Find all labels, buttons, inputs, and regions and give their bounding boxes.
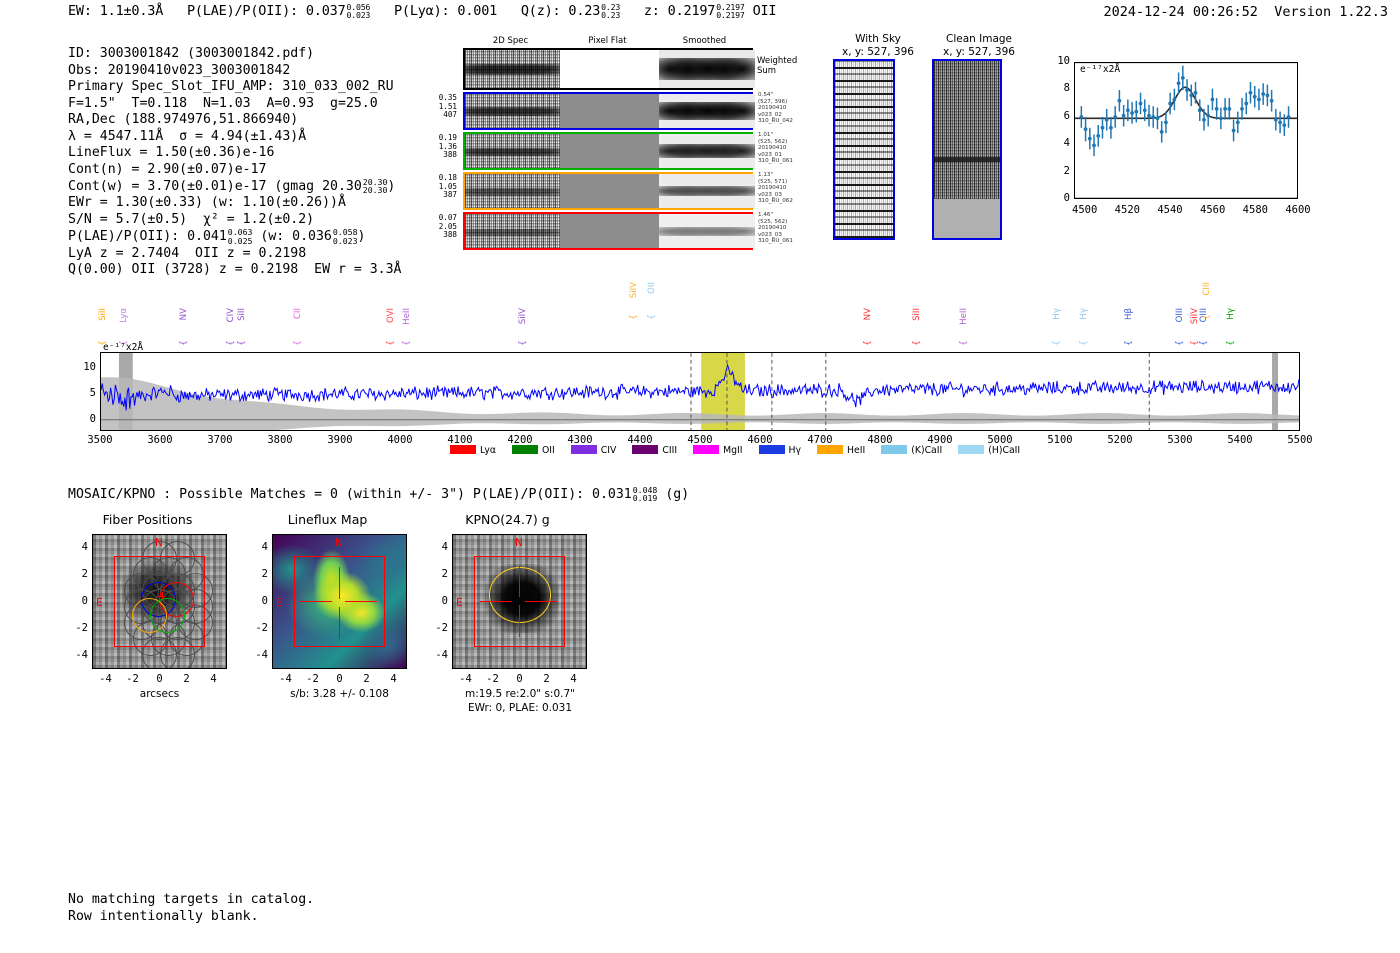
emission-line-brace: { [226, 340, 236, 346]
fiber-y-tick: -4 [66, 649, 88, 661]
emission-line-label: Hγ [1079, 308, 1089, 320]
emission-line-label: OIII [1175, 308, 1185, 322]
lineflux-map-panel: Lineflux Map N E s/b: 3.28 +/- 0.108 -4-… [240, 512, 415, 707]
full-spectrum-x-tick: 5500 [1276, 434, 1324, 446]
full-spectrum-y-tick: 5 [72, 387, 96, 399]
kpno-x-tick: 0 [507, 673, 533, 685]
clean-image-cutout[interactable] [932, 59, 1002, 240]
kpno-y-tick: 4 [426, 541, 448, 553]
fiber-x-tick: -2 [120, 673, 146, 685]
full-spectrum-legend: LyαOIICIVCIIIMgIIHγHeII(K)CaII(H)CaII [450, 445, 1036, 456]
weighted-sum-2dspec [465, 50, 560, 88]
weighted-sum-label: Weighted Sum [757, 56, 797, 76]
info-obs: Obs: 20190410v023_3003001842 [68, 63, 290, 78]
info-redshifts: LyA z = 2.7404 OII z = 0.2198 [68, 246, 306, 261]
legend-label: OII [542, 445, 555, 456]
line-fit-y-tick: 0 [1050, 192, 1070, 204]
mosaic-match-line: MOSAIC/KPNO : Possible Matches = 0 (with… [68, 486, 689, 503]
line-fit-x-tick: 4500 [1068, 204, 1102, 216]
emission-line-brace: { [863, 340, 873, 346]
line-fit-x-tick: 4540 [1153, 204, 1187, 216]
emission-line-label: OVI [386, 308, 396, 323]
line-fit-y-tick: 8 [1050, 82, 1070, 94]
footer-note: No matching targets in catalog. Row inte… [68, 874, 314, 925]
kpno-y-tick: 0 [426, 595, 448, 607]
footer-line-1: No matching targets in catalog. [68, 892, 314, 907]
full-spectrum-x-tick: 3500 [76, 434, 124, 446]
line-fit-y-tick: 6 [1050, 110, 1070, 122]
lineflux-x-tick: 0 [327, 673, 353, 685]
legend-item: CIV [571, 445, 617, 456]
fiber-row[interactable] [463, 92, 753, 130]
emission-line-brace: { [1175, 340, 1185, 346]
info-lambda-sigma: λ = 4547.11Å σ = 4.94(±1.43)Å [68, 129, 306, 144]
fiber-x-tick: 0 [147, 673, 173, 685]
line-fit-plot-area [1075, 63, 1297, 198]
weighted-sum-row [463, 48, 753, 90]
header-qz-label: Q(z): [521, 3, 561, 19]
fiber-y-tick: 0 [66, 595, 88, 607]
with-sky-cutout[interactable] [833, 59, 895, 240]
legend-swatch [632, 445, 658, 454]
full-spectrum-x-tick: 3600 [136, 434, 184, 446]
full-spectrum-plot-area [101, 353, 1299, 430]
legend-item: (K)CaII [881, 445, 942, 456]
header-plae-label: P(LAE)/P(OII): [187, 3, 298, 19]
kpno-y-tick: -2 [426, 622, 448, 634]
source-info-block: ID: 3003001842 (3003001842.pdf) Obs: 201… [68, 30, 401, 279]
line-fit-y-tick: 10 [1050, 55, 1070, 67]
legend-item: CIII [632, 445, 677, 456]
full-spectrum-y-tick: 0 [72, 413, 96, 425]
emission-line-label: SiII [98, 308, 108, 321]
header-plae-value: 0.037 [306, 3, 346, 19]
legend-item: (H)CaII [958, 445, 1020, 456]
fiber-y-tick: 4 [66, 541, 88, 553]
with-sky-title: With Skyx, y: 527, 396 [831, 33, 925, 58]
legend-item: OII [512, 445, 555, 456]
info-ewr: EWr = 1.30(±0.33) (w: 1.10(±0.26))Å [68, 195, 346, 210]
kpno-aperture-ellipse [489, 567, 552, 623]
emission-line-label: Lyα [119, 308, 129, 323]
line-fit-axes [1074, 62, 1298, 199]
lineflux-compass-north: N [335, 537, 343, 549]
emission-line-brace: { [1226, 340, 1236, 346]
legend-label: (K)CaII [911, 445, 942, 456]
legend-swatch [450, 445, 476, 454]
emission-line-label: CIV [226, 308, 236, 322]
emission-line-brace: { [959, 340, 969, 346]
emission-line-label: NV [179, 308, 189, 320]
legend-swatch [881, 445, 907, 454]
header-plya-value: 0.001 [457, 3, 497, 19]
emission-line-brace: { [237, 340, 247, 346]
emission-line-label: HeII [959, 308, 969, 325]
fiber-row-meta: 1.01" (525, 562) 20190410 v023_01 310_RU… [758, 132, 793, 165]
emission-line-label: CII [293, 308, 303, 319]
info-primary-spec: Primary Spec_Slot_IFU_AMP: 310_033_002_R… [68, 79, 394, 94]
fiber-row-metrics: 0.191.36388 [423, 134, 457, 160]
kpno-image[interactable] [452, 534, 587, 669]
line-fit-chart: e⁻¹⁷x2Å 0246810 450045204540456045804600 [1036, 58, 1304, 223]
fiber-row-meta: 1.46" (525, 562) 20190410 v023_03 310_RU… [758, 212, 793, 245]
legend-item: Hγ [759, 445, 802, 456]
emission-line-brace: { [647, 314, 657, 320]
fiber-row-metrics: 0.351.51407 [423, 94, 457, 120]
kpno-x-tick: 4 [561, 673, 587, 685]
version-label: Version 1.22.3 [1274, 4, 1388, 20]
info-sn-chi2: S/N = 5.7(±0.5) χ² = 1.2(±0.2) [68, 212, 314, 227]
legend-label: MgII [723, 445, 742, 456]
kpno-x-tick: 2 [534, 673, 560, 685]
lineflux-map-title: Lineflux Map [240, 512, 415, 527]
kpno-panel: KPNO(24.7) g N E m:19.5 re:2.0" s:0.7" E… [420, 512, 595, 722]
line-fit-x-tick: 4520 [1110, 204, 1144, 216]
full-spectrum-x-tick: 5200 [1096, 434, 1144, 446]
fiber-positions-panel: Fiber Positions N E arcsecs -4-2024 -4-2… [60, 512, 235, 707]
fiber-xlabel: arcsecs [92, 688, 227, 700]
full-spectrum-x-tick: 5100 [1036, 434, 1084, 446]
emission-line-brace: { [179, 340, 189, 346]
weighted-sum-pixelflat [560, 50, 659, 88]
fiber-x-tick: 2 [174, 673, 200, 685]
kpno-caption-1: m:19.5 re:2.0" s:0.7" [425, 688, 615, 700]
header-timestamp-block: 2024-12-24 00:26:52 Version 1.22.3 [1104, 4, 1389, 20]
emission-line-label: OII [647, 282, 657, 294]
fiber-y-tick: -2 [66, 622, 88, 634]
full-spectrum-x-tick: 3800 [256, 434, 304, 446]
info-radec: RA,Dec (188.974976,51.866940) [68, 112, 298, 127]
col-header-2dspec: 2D Spec [463, 36, 558, 46]
line-fit-x-tick: 4560 [1196, 204, 1230, 216]
emission-line-brace: { [402, 340, 412, 346]
header-ew: EW: 1.1±0.3Å [68, 3, 163, 19]
col-header-pixelflat: Pixel Flat [560, 36, 655, 46]
line-fit-y-tick: 4 [1050, 137, 1070, 149]
fiber-red-box [114, 556, 204, 646]
emission-line-brace: { [1079, 340, 1089, 346]
legend-swatch [817, 445, 843, 454]
weighted-sum-smoothed [659, 50, 755, 88]
fiber-x-tick: -4 [93, 673, 119, 685]
emission-line-brace: { [629, 314, 639, 320]
fiber-row-metrics: 0.072.05388 [423, 214, 457, 240]
info-cont-n: Cont(n) = 2.90(±0.07)e-17 [68, 162, 267, 177]
emission-line-label: Hβ [1124, 308, 1134, 320]
fiber-row-metrics: 0.181.05387 [423, 174, 457, 200]
emission-line-label: SiII [237, 308, 247, 321]
info-plae-poii: P(LAE)/P(OII): 0.0410.0630.025 (w: 0.036… [68, 229, 365, 244]
legend-item: MgII [693, 445, 742, 456]
fiber-y-tick: 2 [66, 568, 88, 580]
kpno-caption-2: EWr: 0, PLAE: 0.031 [425, 702, 615, 714]
info-id: ID: 3003001842 (3003001842.pdf) [68, 46, 314, 61]
fiber-row[interactable] [463, 212, 753, 250]
full-spectrum-chart: SiII{Lyα{NV{CIV{SiII{CII{OVI{HeII{SiIV{S… [100, 280, 1300, 465]
kpno-y-tick: -4 [426, 649, 448, 661]
line-fit-x-tick: 4600 [1281, 204, 1315, 216]
emission-line-brace: { [293, 340, 303, 346]
legend-label: Lyα [480, 445, 496, 456]
line-fit-x-tick: 4580 [1238, 204, 1272, 216]
fiber-x-tick: 4 [201, 673, 227, 685]
legend-item: Lyα [450, 445, 496, 456]
emission-line-brace: { [1052, 340, 1062, 346]
emission-line-label: HeII [402, 308, 412, 325]
lineflux-y-tick: -4 [246, 649, 268, 661]
kpno-x-tick: -4 [453, 673, 479, 685]
kpno-compass-north: N [515, 537, 523, 549]
header-z-errors: 0.21970.2197 [716, 3, 744, 20]
emission-line-label: SiIV [629, 282, 639, 298]
full-spectrum-x-tick: 3900 [316, 434, 364, 446]
header-z-value: 0.2197 [668, 3, 716, 19]
emission-line-brace: { [1124, 340, 1134, 346]
full-spectrum-x-tick: 5400 [1216, 434, 1264, 446]
mosaic-plae-errors: 0.0480.019 [633, 486, 658, 503]
full-spectrum-annotation: e⁻¹⁷x2Å [103, 342, 143, 353]
emission-line-label: SiIV [518, 308, 528, 324]
header-z-label: z: [644, 3, 660, 19]
legend-swatch [693, 445, 719, 454]
emission-line-brace: { [1199, 340, 1209, 346]
timestamp: 2024-12-24 00:26:52 [1104, 4, 1258, 20]
emission-line-label: NV [863, 308, 873, 320]
kpno-title: KPNO(24.7) g [420, 512, 595, 527]
legend-swatch [958, 445, 984, 454]
emission-line-brace: { [518, 340, 528, 346]
emission-line-brace: { [1202, 314, 1212, 320]
kpno-x-tick: -2 [480, 673, 506, 685]
lineflux-y-tick: 2 [246, 568, 268, 580]
full-spectrum-y-tick: 10 [72, 361, 96, 373]
fiber-positions-title: Fiber Positions [60, 512, 235, 527]
lineflux-compass-east: E [276, 597, 283, 609]
lineflux-y-tick: -2 [246, 622, 268, 634]
header-plya-label: P(Lyα): [394, 3, 450, 19]
kpno-compass-east: E [456, 597, 463, 609]
lineflux-x-tick: -2 [300, 673, 326, 685]
info-seeing: F=1.5" T=0.118 N=1.03 A=0.93 g=25.0 [68, 96, 378, 111]
mosaic-filter: (g) [665, 487, 689, 502]
info-cont-w: Cont(w) = 3.70(±0.01)e-17 (gmag 20.3020.… [68, 179, 395, 194]
full-spectrum-x-tick: 4000 [376, 434, 424, 446]
legend-label: CIV [601, 445, 617, 456]
fiber-row-meta: 0.54" (527, 396) 20190410 v023_02 310_RU… [758, 92, 793, 125]
header-qz-value: 0.23 [568, 3, 600, 19]
fiber-positions-image[interactable] [92, 534, 227, 669]
lineflux-x-tick: 4 [381, 673, 407, 685]
info-q-line: Q(0.00) OII (3728) z = 0.2198 EW r = 3.3… [68, 262, 401, 277]
footer-line-2: Row intentionally blank. [68, 909, 259, 924]
lineflux-x-tick: -4 [273, 673, 299, 685]
emission-line-brace: { [386, 340, 396, 346]
emission-line-label: SiII [912, 308, 922, 321]
legend-swatch [512, 445, 538, 454]
header-z-type: OII [753, 3, 777, 19]
kpno-y-tick: 2 [426, 568, 448, 580]
header-summary-line: EW: 1.1±0.3Å P(LAE)/P(OII): 0.0370.0560.… [68, 3, 776, 20]
lineflux-y-tick: 4 [246, 541, 268, 553]
line-fit-annotation: e⁻¹⁷x2Å [1080, 64, 1120, 75]
line-fit-y-tick: 2 [1050, 165, 1070, 177]
emission-line-label: Hγ [1052, 308, 1062, 320]
fiber-row-meta: 1.13" (525, 571) 20190410 v023_03 310_RU… [758, 172, 793, 205]
fiber-row[interactable] [463, 172, 753, 210]
legend-swatch [759, 445, 785, 454]
emission-line-label: CIII [1202, 282, 1212, 296]
clean-image-title: Clean Imagex, y: 527, 396 [928, 33, 1030, 58]
full-spectrum-x-tick: 5300 [1156, 434, 1204, 446]
lineflux-x-tick: 2 [354, 673, 380, 685]
fiber-compass-east: E [96, 597, 103, 609]
header-qz-errors: 0.230.23 [601, 3, 620, 20]
fiber-compass-north: N [155, 537, 163, 549]
full-spectrum-axes [100, 352, 1300, 431]
legend-swatch [571, 445, 597, 454]
col-header-smoothed: Smoothed [657, 36, 752, 46]
lineflux-y-tick: 0 [246, 595, 268, 607]
mosaic-text: MOSAIC/KPNO : Possible Matches = 0 (with… [68, 487, 632, 502]
full-spectrum-x-tick: 3700 [196, 434, 244, 446]
legend-item: HeII [817, 445, 865, 456]
info-lineflux: LineFlux = 1.50(±0.36)e-16 [68, 145, 274, 160]
lineflux-map-image[interactable] [272, 534, 407, 669]
legend-label: CIII [662, 445, 677, 456]
lineflux-caption: s/b: 3.28 +/- 0.108 [252, 688, 427, 700]
legend-label: HeII [847, 445, 865, 456]
header-plae-errors: 0.0560.023 [347, 3, 371, 20]
legend-label: (H)CaII [988, 445, 1020, 456]
emission-line-brace: { [912, 340, 922, 346]
fiber-row[interactable] [463, 132, 753, 170]
emission-line-label: Hγ [1226, 308, 1236, 320]
legend-label: Hγ [789, 445, 802, 456]
